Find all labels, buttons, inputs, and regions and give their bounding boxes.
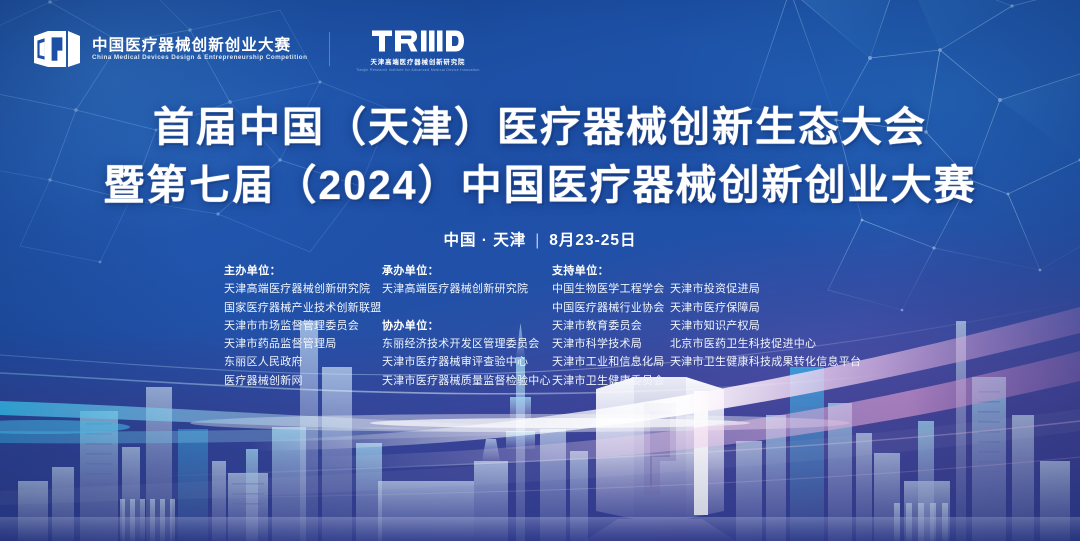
organizer-item: 国家医疗器械产业技术创新联盟: [224, 299, 382, 317]
group-heading: 主办单位：: [224, 262, 382, 280]
column-spacer: [670, 262, 880, 280]
triid-wordmark-icon: [372, 26, 464, 56]
group-heading: 协办单位：: [382, 317, 552, 335]
organizer-columns: 主办单位： 天津高端医疗器械创新研究院 国家医疗器械产业技术创新联盟 天津市市场…: [224, 262, 880, 390]
organizer-item: 天津市药品监督管理局: [224, 335, 382, 353]
organizer-column-2: 承办单位： 天津高端医疗器械创新研究院 协办单位： 东丽经济技术开发区管理委员会…: [382, 262, 552, 390]
organizer-item: 天津市卫生健康科技成果转化信息平台: [670, 353, 880, 371]
competition-logo-text: 中国医疗器械创新创业大赛 China Medical Devices Desig…: [92, 38, 303, 62]
organizer-item: 天津市教育委员会: [552, 317, 670, 335]
organizer-item: 北京市医药卫生科技促进中心: [670, 335, 880, 353]
organizer-item: 天津市工业和信息化局: [552, 353, 670, 371]
page-title: 首届中国（天津）医疗器械创新生态大会 暨第七届（2024）中国医疗器械创新创业大…: [0, 98, 1080, 214]
organizer-column-1: 主办单位： 天津高端医疗器械创新研究院 国家医疗器械产业技术创新联盟 天津市市场…: [224, 262, 382, 390]
organizer-item: 天津高端医疗器械创新研究院: [382, 280, 552, 298]
banner-header: 中国医疗器械创新创业大赛 China Medical Devices Desig…: [33, 26, 480, 73]
organizer-item: 天津市科学技术局: [552, 335, 670, 353]
organizer-item: 天津高端医疗器械创新研究院: [224, 280, 382, 298]
organizer-item: 东丽经济技术开发区管理委员会: [382, 335, 552, 353]
competition-logo[interactable]: 中国医疗器械创新创业大赛 China Medical Devices Desig…: [33, 28, 303, 70]
organizer-item: 天津市医疗保障局: [670, 299, 880, 317]
title-line-1: 首届中国（天津）医疗器械创新生态大会: [0, 98, 1080, 156]
organizer-item: 医疗器械创新网: [224, 372, 382, 390]
organizer-item: 天津市卫生健康委员会: [552, 372, 670, 390]
header-divider: [329, 32, 330, 66]
institute-logo[interactable]: 天津高端医疗器械创新研究院 Tianjin Research Institute…: [356, 26, 480, 73]
event-location: 中国 · 天津: [443, 232, 526, 249]
column-spacer: [382, 299, 552, 317]
organizer-item: 中国生物医学工程学会: [552, 280, 670, 298]
title-line-2: 暨第七届（2024）中国医疗器械创新创业大赛: [0, 156, 1080, 214]
meta-separator: |: [535, 232, 540, 250]
organizer-item: 天津市投资促进局: [670, 280, 880, 298]
organizer-column-3: 支持单位： 中国生物医学工程学会 中国医疗器械行业协会 天津市教育委员会 天津市…: [552, 262, 670, 390]
organizer-column-4: 天津市投资促进局 天津市医疗保障局 天津市知识产权局 北京市医药卫生科技促进中心…: [670, 262, 880, 372]
competition-name-en: China Medical Devices Design & Entrepren…: [92, 55, 307, 61]
organizer-item: 中国医疗器械行业协会: [552, 299, 670, 317]
organizer-item: 天津市医疗器械质量监督检验中心: [382, 372, 552, 390]
competition-name-cn: 中国医疗器械创新创业大赛: [92, 38, 303, 54]
group-heading: 支持单位：: [552, 262, 670, 280]
institute-name-cn: 天津高端医疗器械创新研究院: [371, 59, 466, 66]
organizer-item: 东丽区人民政府: [224, 353, 382, 371]
organizer-item: 天津市知识产权局: [670, 317, 880, 335]
organizer-item: 天津市市场监督管理委员会: [224, 317, 382, 335]
organizer-item: 天津市医疗器械审评查验中心: [382, 353, 552, 371]
event-date: 8月23-25日: [549, 232, 636, 249]
institute-name-en: Tianjin Research Institute for Advanced …: [356, 69, 480, 73]
event-meta: 中国 · 天津|8月23-25日: [0, 228, 1080, 250]
group-heading: 承办单位：: [382, 262, 552, 280]
open-book-logo-mark-icon: [33, 28, 81, 70]
conference-banner: 中国医疗器械创新创业大赛 China Medical Devices Desig…: [0, 0, 1080, 541]
